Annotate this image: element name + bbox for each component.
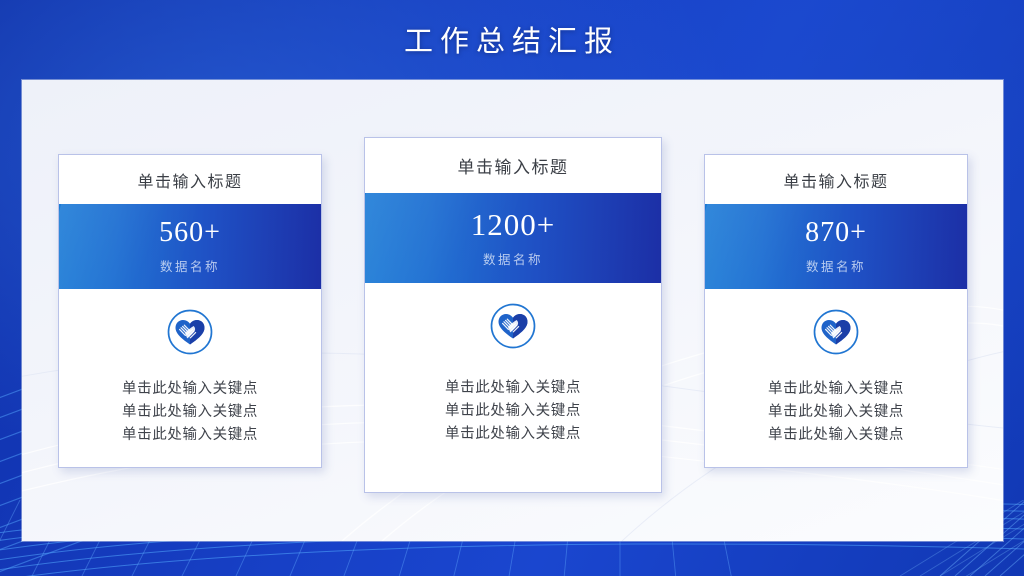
card-1-body: 单击此处输入关键点 单击此处输入关键点 单击此处输入关键点 xyxy=(59,289,321,467)
stat-card-2[interactable]: 单击输入标题 1200+ 数据名称 xyxy=(364,137,662,493)
list-item: 单击此处输入关键点 xyxy=(122,401,258,424)
handshake-heart-icon xyxy=(166,308,214,356)
list-item: 单击此处输入关键点 xyxy=(445,400,581,423)
list-item: 单击此处输入关键点 xyxy=(768,424,904,447)
list-item: 单击此处输入关键点 xyxy=(445,377,581,400)
handshake-heart-icon xyxy=(489,302,537,350)
stat-card-1[interactable]: 单击输入标题 560+ 数据名称 xyxy=(58,154,322,468)
list-item: 单击此处输入关键点 xyxy=(122,424,258,447)
card-3-number: 870+ xyxy=(805,219,867,247)
card-3-bullets: 单击此处输入关键点 单击此处输入关键点 单击此处输入关键点 xyxy=(768,378,904,447)
list-item: 单击此处输入关键点 xyxy=(122,378,258,401)
card-1-number: 560+ xyxy=(159,219,221,247)
card-2-stat-band: 1200+ 数据名称 xyxy=(365,193,661,283)
card-2-header: 单击输入标题 xyxy=(365,138,661,193)
card-2-body: 单击此处输入关键点 单击此处输入关键点 单击此处输入关键点 xyxy=(365,283,661,492)
card-3-body: 单击此处输入关键点 单击此处输入关键点 单击此处输入关键点 xyxy=(705,289,967,467)
card-2-sub-label: 数据名称 xyxy=(483,249,543,268)
card-1-sub-label: 数据名称 xyxy=(160,256,220,275)
page-title: 工作总结汇报 xyxy=(0,20,1024,64)
card-3-sub-label: 数据名称 xyxy=(806,256,866,275)
card-3-header: 单击输入标题 xyxy=(705,155,967,204)
list-item: 单击此处输入关键点 xyxy=(768,401,904,424)
content-panel: 单击输入标题 560+ 数据名称 xyxy=(22,80,1003,541)
handshake-heart-icon xyxy=(812,308,860,356)
card-2-bullets: 单击此处输入关键点 单击此处输入关键点 单击此处输入关键点 xyxy=(445,377,581,446)
card-3-stat-band: 870+ 数据名称 xyxy=(705,204,967,289)
card-1-header: 单击输入标题 xyxy=(59,155,321,204)
list-item: 单击此处输入关键点 xyxy=(768,378,904,401)
card-2-number: 1200+ xyxy=(471,209,555,240)
list-item: 单击此处输入关键点 xyxy=(445,423,581,446)
stat-card-3[interactable]: 单击输入标题 870+ 数据名称 xyxy=(704,154,968,468)
card-1-stat-band: 560+ 数据名称 xyxy=(59,204,321,289)
card-1-bullets: 单击此处输入关键点 单击此处输入关键点 单击此处输入关键点 xyxy=(122,378,258,447)
